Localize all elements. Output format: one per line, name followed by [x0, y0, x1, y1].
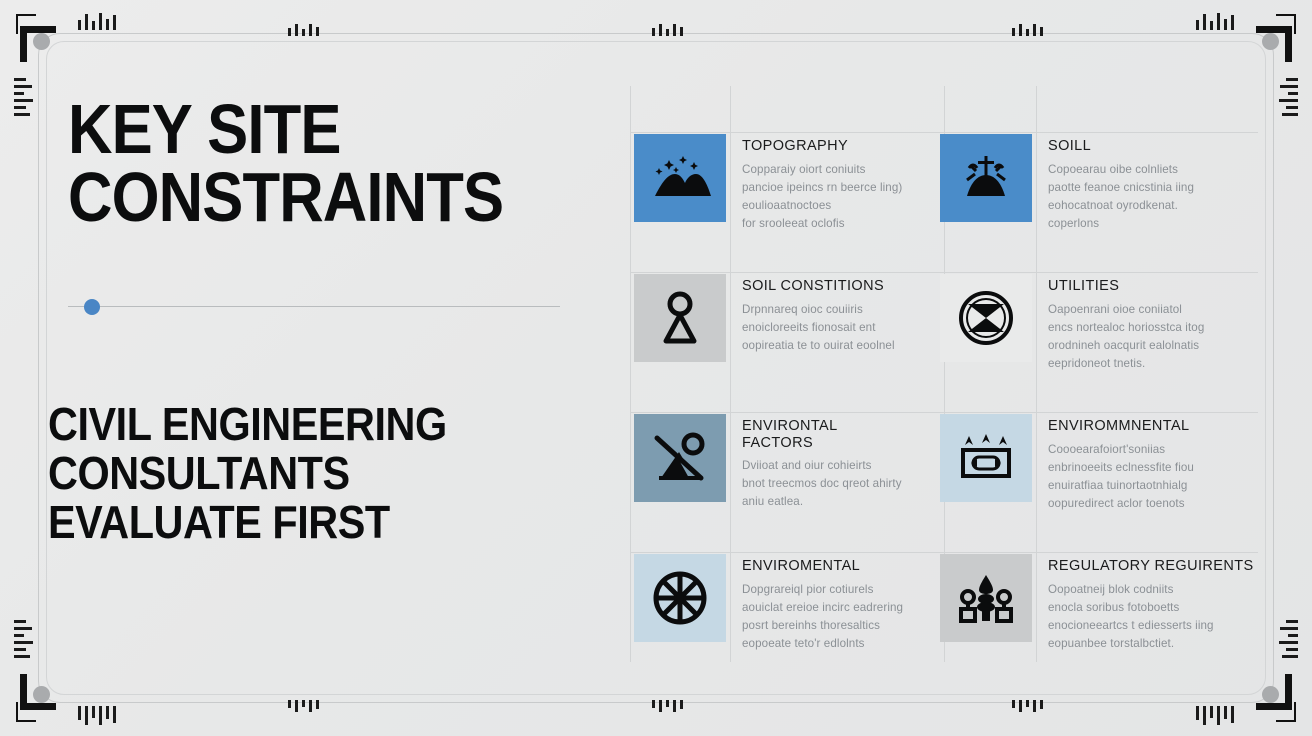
page-subtitle: CIVIL ENGINEERING CONSULTANTS EVALUATE F…	[48, 400, 552, 546]
grid-hline-3	[630, 412, 1258, 413]
constraint-cell-enviromental[interactable]: ENVIROMENTAL Dopgrareiql pior cotiurels …	[634, 554, 940, 653]
grid-hline-2	[630, 272, 1258, 273]
cell-body: SOILL Copoearau oibe colnliets paotte fe…	[1032, 134, 1258, 233]
cell-title: ENVIRONTAL FACTORS	[742, 418, 892, 451]
keyhole-funnel-icon	[634, 274, 726, 362]
ruler-ticks-bottom-left	[78, 706, 116, 726]
ruler-ticks-right-upper	[1279, 78, 1298, 116]
ruler-ticks-bottom-mid-right	[1012, 700, 1043, 714]
cell-description: Dopgrareiql pior cotiurels aouiclat erei…	[742, 581, 940, 653]
constraint-cell-utilities[interactable]: UTILITIES Oapoenrani oioe coniiatol encs…	[940, 274, 1258, 373]
constraint-cell-topography[interactable]: TOPOGRAPHY Copparaiy oiort coniuits panc…	[634, 134, 940, 233]
ruler-ticks-left-upper	[14, 78, 33, 116]
subtitle-line-3: EVALUATE FIRST	[48, 498, 552, 547]
title-line-2: CONSTRAINTS	[68, 164, 526, 232]
cell-body: ENVIROMMNENTAL Coooearafoiort'soniias en…	[1032, 414, 1258, 513]
ruler-ticks-top-mid	[652, 22, 683, 36]
bowtie-circle-icon	[940, 274, 1032, 362]
constraints-grid: TOPOGRAPHY Copparaiy oiort coniuits panc…	[630, 86, 1258, 662]
ruler-ticks-bottom-mid	[652, 700, 683, 714]
mound-antenna-icon	[940, 134, 1032, 222]
cell-title: TOPOGRAPHY	[742, 138, 940, 155]
constraint-cell-soil-constitions[interactable]: SOIL CONSTITIONS Drpnnareq oioc couiiris…	[634, 274, 940, 362]
corner-bracket-top-left	[16, 14, 60, 58]
trees-markers-icon	[940, 554, 1032, 642]
cell-title: ENVIROMMNENTAL	[1048, 418, 1258, 435]
constraint-cell-regulatory-reguirents[interactable]: REGULATORY REGUIRENTS Oopoatneij blok co…	[940, 554, 1258, 653]
framed-arrows-icon	[940, 414, 1032, 502]
ruler-ticks-top-left	[78, 10, 116, 30]
cell-description: Oopoatneij blok codniits enocla soribus …	[1048, 581, 1258, 653]
infographic-canvas: KEY SITE CONSTRAINTS CIVIL ENGINEERING C…	[0, 0, 1312, 736]
ruler-ticks-top-mid-left	[288, 22, 319, 36]
grid-hline-4	[630, 552, 1258, 553]
ruler-ticks-top-mid-right	[1012, 22, 1043, 36]
constraint-cell-enviromnental[interactable]: ENVIROMMNENTAL Coooearafoiort'soniias en…	[940, 414, 1258, 513]
title-divider	[68, 306, 560, 307]
corner-bracket-bottom-left	[16, 678, 60, 722]
cell-title: SOILL	[1048, 138, 1258, 155]
slope-sun-icon	[634, 414, 726, 502]
ruler-ticks-top-right	[1196, 10, 1234, 30]
cell-description: Copoearau oibe colnliets paotte feanoe c…	[1048, 161, 1258, 233]
mountain-sparkle-icon	[634, 134, 726, 222]
constraint-cell-environtal-factors[interactable]: ENVIRONTAL FACTORS Dviioat and oiur cohi…	[634, 414, 940, 511]
cell-description: Drpnnareq oioc couiiris enoicloreeits fi…	[742, 301, 940, 355]
ruler-ticks-bottom-mid-left	[288, 700, 319, 714]
cell-body: ENVIROMENTAL Dopgrareiql pior cotiurels …	[726, 554, 940, 653]
cell-title: UTILITIES	[1048, 278, 1258, 295]
cell-body: UTILITIES Oapoenrani oioe coniiatol encs…	[1032, 274, 1258, 373]
cell-description: Copparaiy oiort coniuits pancioe ipeincs…	[742, 161, 940, 233]
grid-vline-1	[630, 86, 631, 662]
accent-dot	[84, 299, 100, 315]
grid-hline-1	[630, 132, 1258, 133]
cell-body: SOIL CONSTITIONS Drpnnareq oioc couiiris…	[726, 274, 940, 362]
cell-description: Coooearafoiort'soniias enbrinoeeits ecln…	[1048, 441, 1258, 513]
cell-body: TOPOGRAPHY Copparaiy oiort coniuits panc…	[726, 134, 940, 233]
cell-title: SOIL CONSTITIONS	[742, 278, 940, 295]
cell-title: ENVIROMENTAL	[742, 558, 940, 575]
ruler-ticks-right-lower	[1279, 620, 1298, 658]
cell-body: ENVIRONTAL FACTORS Dviioat and oiur cohi…	[726, 414, 940, 511]
page-title: KEY SITE CONSTRAINTS	[68, 96, 588, 232]
corner-bracket-top-right	[1252, 14, 1296, 58]
cell-description: Oapoenrani oioe coniiatol encs nortealoc…	[1048, 301, 1258, 373]
title-line-1: KEY SITE	[68, 96, 526, 164]
cell-title: REGULATORY REGUIRENTS	[1048, 558, 1258, 575]
ruler-ticks-bottom-right	[1196, 706, 1234, 726]
corner-bracket-bottom-right	[1252, 678, 1296, 722]
subtitle-line-1: CIVIL ENGINEERING	[48, 400, 552, 449]
cell-body: REGULATORY REGUIRENTS Oopoatneij blok co…	[1032, 554, 1258, 653]
constraint-cell-soill[interactable]: SOILL Copoearau oibe colnliets paotte fe…	[940, 134, 1258, 233]
spoked-wheel-icon	[634, 554, 726, 642]
subtitle-line-2: CONSULTANTS	[48, 449, 552, 498]
cell-description: Dviioat and oiur cohieirts bnot treecmos…	[742, 457, 940, 511]
ruler-ticks-left-lower	[14, 620, 33, 658]
